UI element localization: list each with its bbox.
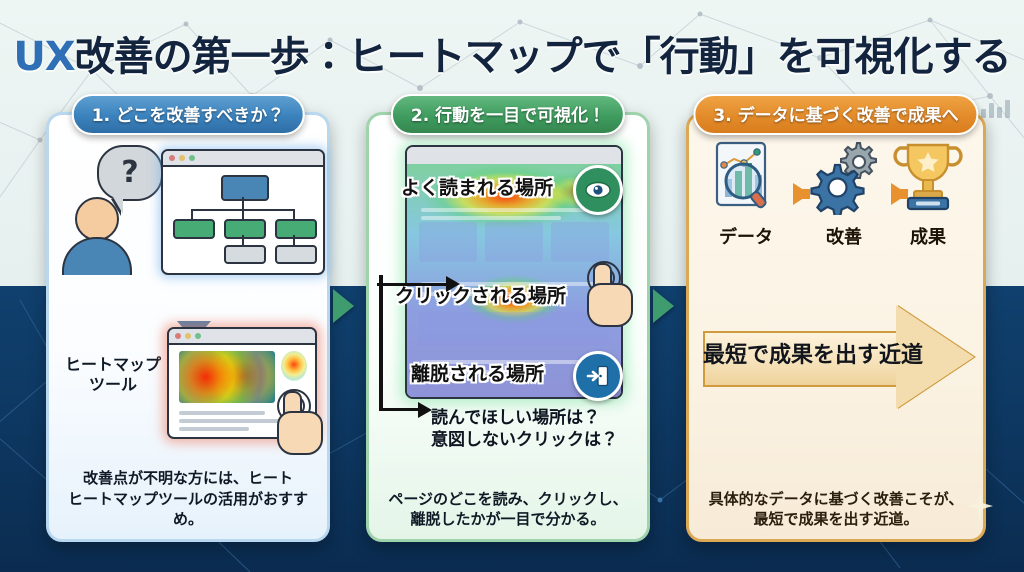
panel-3-footer-line1: 具体的なデータに基づく改善こそが、 [699, 489, 973, 509]
flow-step-data: データ [703, 139, 789, 249]
flow-step-improve: 改善 [801, 139, 887, 249]
sitemap-node-level2 [224, 219, 266, 239]
sitemap-node-root [221, 175, 269, 201]
panel-3-footer-line2: 最短で成果を出す近道。 [699, 509, 973, 529]
panel-2-footer: ページのどこを読み、クリックし、 離脱したかが一目で分かる。 [379, 489, 637, 530]
page-block [485, 222, 543, 262]
flow-label-improve: 改善 [801, 223, 887, 249]
click-hand-icon [581, 261, 633, 323]
sitemap-connector [191, 209, 193, 219]
panel-visualize-behavior[interactable]: よく読まれる場所 クリックされる場所 離脱される場所 [366, 112, 650, 542]
eye-icon [573, 165, 623, 215]
question-speech-bubble: ? [97, 145, 163, 201]
infographic-canvas: UX改善の第一歩：ヒートマップで「行動」を可視化する ? [0, 0, 1024, 572]
hand-palm [587, 283, 633, 327]
chart-magnifier-icon [709, 139, 783, 215]
browser-titlebar [169, 329, 315, 345]
panel-3-badge: 3. データに基づく改善で成果へ [693, 94, 978, 135]
eye-glyph [585, 181, 611, 199]
flow-step-results: 成果 [885, 139, 971, 249]
panel-1-badge: 1. どこを改善すべきか？ [72, 94, 305, 135]
heat-caption-read: よく読まれる場所 [401, 173, 553, 200]
exit-door-icon [573, 351, 623, 401]
page-block [419, 222, 477, 262]
sitemap-node-level3 [275, 245, 317, 264]
flow-label-data: データ [703, 223, 789, 249]
content-line [179, 411, 265, 415]
window-minimize-dot [179, 155, 185, 161]
window-maximize-dot [189, 155, 195, 161]
window-maximize-dot [195, 333, 201, 339]
exit-glyph [586, 364, 610, 388]
person-avatar-head [75, 197, 119, 241]
panel-2-note-line2: 意図しないクリックは？ [431, 429, 618, 451]
sitemap-node-level3 [224, 245, 266, 264]
page-text-line [421, 208, 601, 212]
sitemap-connector [293, 209, 295, 219]
title-accent: UX [13, 34, 74, 80]
content-line [179, 419, 283, 423]
panel-where-to-improve[interactable]: ? [46, 112, 330, 542]
connector-1-to-2-icon [333, 289, 354, 323]
panel-2-body: よく読まれる場所 クリックされる場所 離脱される場所 [366, 112, 650, 542]
heatmap-tool-label-line2: ツール [61, 375, 165, 395]
elbow-vertical [379, 275, 383, 411]
panel-3-footer: 具体的なデータに基づく改善こそが、 最短で成果を出す近道。 [699, 489, 973, 530]
content-line [179, 427, 249, 431]
page-title: UX改善の第一歩：ヒートマップで「行動」を可視化する [0, 24, 1024, 82]
question-mark-icon: ? [99, 147, 161, 199]
panel-1-body: ? [46, 112, 330, 542]
browser-titlebar [163, 151, 323, 167]
panel-2-badge: 2. 行動を一目で可視化！ [391, 94, 625, 135]
panel-2-note: 読んでほしい場所は？ 意図しないクリックは？ [431, 407, 618, 451]
gears-icon [807, 139, 881, 215]
sitemap-browser-window [161, 149, 325, 275]
page-text-line [421, 216, 561, 220]
sitemap-connector [242, 235, 244, 245]
sitemap-node-level2 [173, 219, 215, 239]
panel-data-driven-results[interactable]: データ 改善 [686, 112, 986, 542]
bar-chart-icon [981, 100, 1010, 118]
elbow-tip [418, 402, 432, 418]
trophy-icon [891, 139, 965, 215]
panel-3-body: データ 改善 [686, 112, 986, 542]
heat-caption-exit: 離脱される場所 [411, 359, 544, 386]
panel-2-footer-line2: 離脱したかが一目で分かる。 [379, 509, 637, 529]
heatmap-visual [179, 351, 275, 403]
click-hand-icon [271, 389, 323, 451]
sitemap-connector [293, 235, 295, 245]
panel-1-footer-line1: 改善点が不明な方には、ヒート [59, 468, 317, 488]
hand-palm [277, 411, 323, 455]
window-close-dot [175, 333, 181, 339]
panel-2-footer-line1: ページのどこを読み、クリックし、 [379, 489, 637, 509]
shortcut-banner-arrow: 最短で成果を出す近道 [703, 305, 975, 409]
heatmap-tool-label-line1: ヒートマップ [61, 355, 165, 375]
panel-1-footer: 改善点が不明な方には、ヒート ヒートマップツールの活用がおすすめ。 [59, 468, 317, 529]
page-block [551, 222, 609, 262]
heatmap-hotspot [281, 351, 307, 381]
elbow-horizontal [379, 408, 419, 412]
sitemap-connector [242, 197, 244, 209]
sitemap-connector [242, 209, 244, 219]
heatmap-tool-label: ヒートマップ ツール [61, 355, 165, 395]
elbow-arrow-icon [379, 275, 419, 411]
sitemap-node-level2 [275, 219, 317, 239]
window-minimize-dot [185, 333, 191, 339]
flow-label-results: 成果 [885, 223, 971, 249]
panel-3-flow: データ 改善 [689, 139, 983, 269]
title-rest: 改善の第一歩：ヒートマップで「行動」を可視化する [75, 34, 1011, 80]
person-avatar-body [62, 237, 132, 275]
shortcut-banner-text: 最短で成果を出す近道 [703, 337, 913, 369]
panel-1-footer-line2: ヒートマップツールの活用がおすすめ。 [59, 489, 317, 530]
connector-2-to-3-icon [653, 289, 674, 323]
panel-1-illustration-top: ? [57, 141, 325, 291]
panel-2-note-line1: 読んでほしい場所は？ [431, 407, 618, 429]
window-close-dot [169, 155, 175, 161]
